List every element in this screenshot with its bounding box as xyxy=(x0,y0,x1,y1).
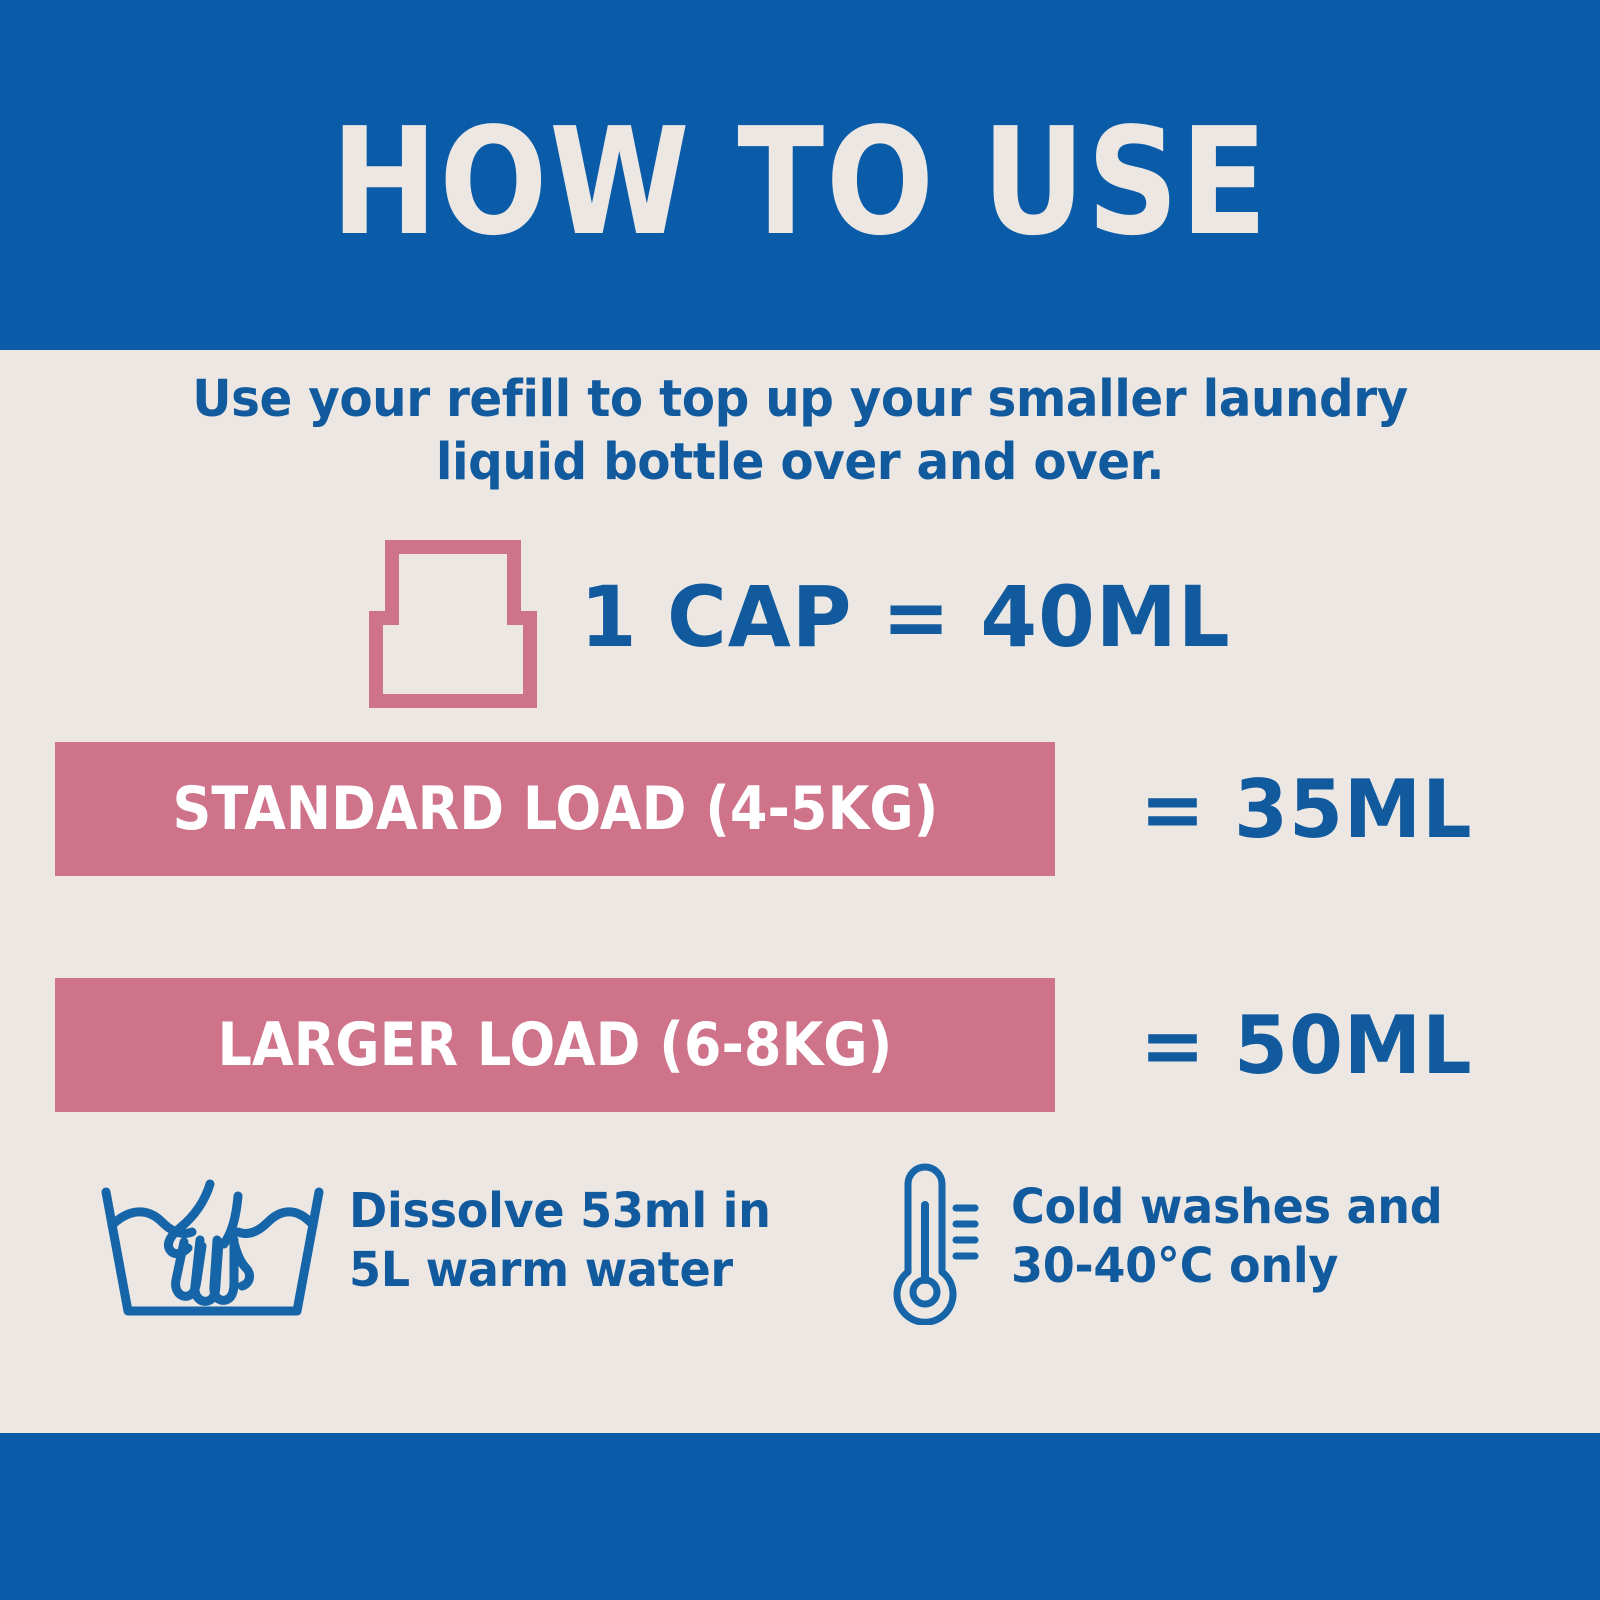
dose-amount-standard: = 35ML xyxy=(1140,770,1473,850)
dose-row-larger: LARGER LOAD (6-8KG) = 50ML xyxy=(0,978,1600,1112)
measuring-cap-icon xyxy=(358,533,548,713)
care-notes: Dissolve 53ml in 5L warm water xyxy=(0,1160,1600,1340)
thermometer-icon xyxy=(880,1160,985,1330)
dose-amount-larger: = 50ML xyxy=(1140,1006,1473,1086)
dose-label-larger: LARGER LOAD (6-8KG) xyxy=(218,1015,893,1075)
cap-row: 1 CAP = 40ML xyxy=(0,525,1600,710)
hand-wash-icon xyxy=(100,1170,325,1325)
footer-band xyxy=(0,1433,1600,1600)
care-note-temperature: Cold washes and 30-40°C only xyxy=(880,1160,1460,1330)
cap-equation-label: 1 CAP = 40ML xyxy=(580,575,1231,659)
care-note-temperature-text: Cold washes and 30-40°C only xyxy=(1011,1178,1442,1295)
dose-bar-standard: STANDARD LOAD (4-5KG) xyxy=(55,742,1055,876)
care-note-dissolve-text: Dissolve 53ml in 5L warm water xyxy=(349,1182,771,1299)
intro-text: Use your refill to top up your smaller l… xyxy=(183,368,1418,494)
dose-label-standard: STANDARD LOAD (4-5KG) xyxy=(172,779,938,839)
header-band: HOW TO USE xyxy=(0,0,1600,350)
dose-bar-larger: LARGER LOAD (6-8KG) xyxy=(55,978,1055,1112)
care-note-dissolve: Dissolve 53ml in 5L warm water xyxy=(100,1160,788,1325)
page-title: HOW TO USE xyxy=(112,108,1488,256)
dose-row-standard: STANDARD LOAD (4-5KG) = 35ML xyxy=(0,742,1600,876)
